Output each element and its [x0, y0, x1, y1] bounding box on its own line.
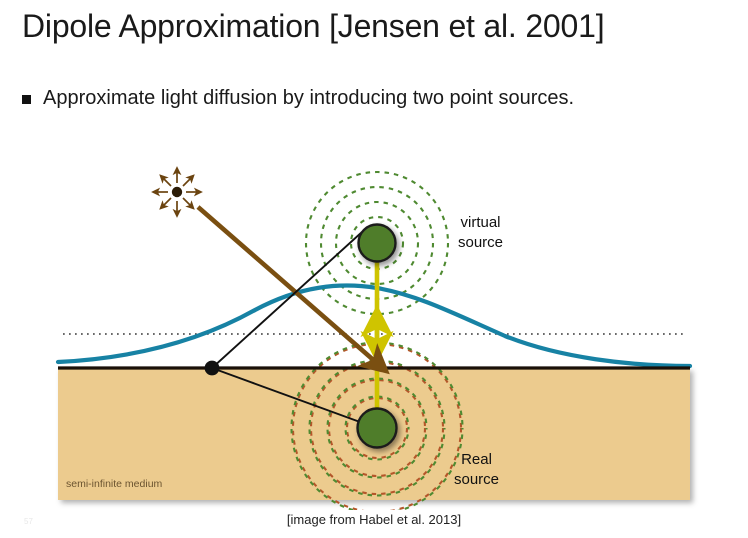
diffusion-profile-curve: [58, 286, 690, 366]
dipole-diagram: [0, 150, 748, 510]
figure-caption: [image from Habel et al. 2013]: [0, 512, 748, 527]
surface-hit-point-icon: [205, 361, 220, 376]
square-bullet-icon: [22, 95, 31, 104]
virtual-source-dot-icon: [359, 225, 396, 262]
page-title: Dipole Approximation [Jensen et al. 2001…: [22, 8, 604, 45]
real-source-label-line2: source: [454, 470, 499, 490]
slide-number: 57: [24, 517, 33, 526]
real-source-dot-icon: [358, 409, 397, 448]
virtual-source-label-line1: virtual: [458, 213, 503, 233]
real-source-label-line1: Real: [454, 450, 499, 470]
semi-infinite-medium-label: semi-infinite medium: [66, 478, 162, 490]
virtual-source-label-line2: source: [458, 233, 503, 253]
slide-canvas: Dipole Approximation [Jensen et al. 2001…: [0, 0, 748, 538]
real-source-label: Real source: [454, 450, 499, 491]
bullet-item: Approximate light diffusion by introduci…: [22, 86, 574, 111]
light-source-star-icon: [155, 170, 199, 214]
bullet-text: Approximate light diffusion by introduci…: [43, 86, 574, 111]
virtual-source-label: virtual source: [458, 213, 503, 254]
